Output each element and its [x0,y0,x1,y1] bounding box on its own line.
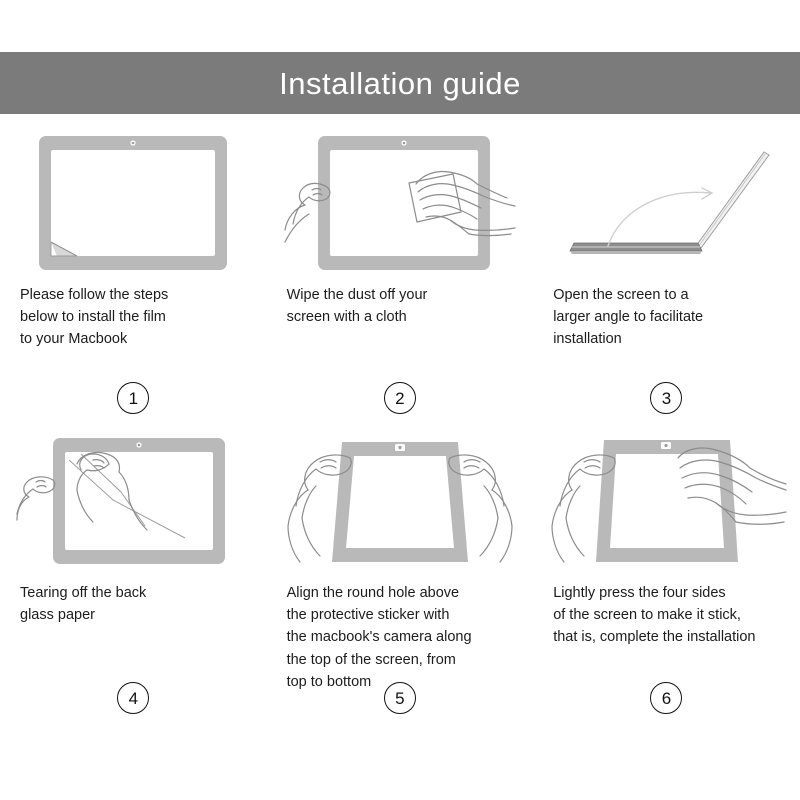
step-number: 3 [650,382,682,414]
steps-grid: Please follow the steps below to install… [0,128,800,728]
step-4-badge: 4 [0,682,267,714]
step-number: 1 [117,382,149,414]
step-cell-4: Tearing off the back glass paper 4 [0,428,267,728]
step-1-illustration [18,128,249,278]
installation-guide-page: Installation guide [0,0,800,800]
step-6-caption: Lightly press the four sides of the scre… [551,582,782,649]
laptop-base-icon [570,243,702,254]
step-cell-1: Please follow the steps below to install… [0,128,267,428]
support-hand-icon [17,477,55,520]
step-2-illustration [285,128,516,278]
step-number: 6 [650,682,682,714]
step-5-badge: 5 [267,682,534,714]
step-2-caption: Wipe the dust off your screen with a clo… [285,284,516,328]
page-title: Installation guide [279,68,521,99]
step-5-illustration [285,428,516,578]
step-number: 4 [117,682,149,714]
step-cell-2: Wipe the dust off your screen with a clo… [267,128,534,428]
header-band: Installation guide [0,52,800,114]
step-5-caption: Align the round hole above the protectiv… [285,582,516,693]
open-angle-arrow-icon [608,188,712,246]
laptop-lid-icon [696,152,769,248]
step-cell-6: Lightly press the four sides of the scre… [533,428,800,728]
step-6-illustration [551,428,782,578]
step-1-caption: Please follow the steps below to install… [18,284,249,351]
step-4-caption: Tearing off the back glass paper [18,582,249,626]
step-cell-5: Align the round hole above the protectiv… [267,428,534,728]
step-3-illustration [551,128,782,278]
step-6-badge: 6 [533,682,800,714]
step-4-illustration [18,428,249,578]
step-1-badge: 1 [0,382,267,414]
step-2-badge: 2 [267,382,534,414]
step-cell-3: Open the screen to a larger angle to fac… [533,128,800,428]
step-number: 2 [384,382,416,414]
step-3-badge: 3 [533,382,800,414]
step-3-caption: Open the screen to a larger angle to fac… [551,284,782,351]
step-number: 5 [384,682,416,714]
